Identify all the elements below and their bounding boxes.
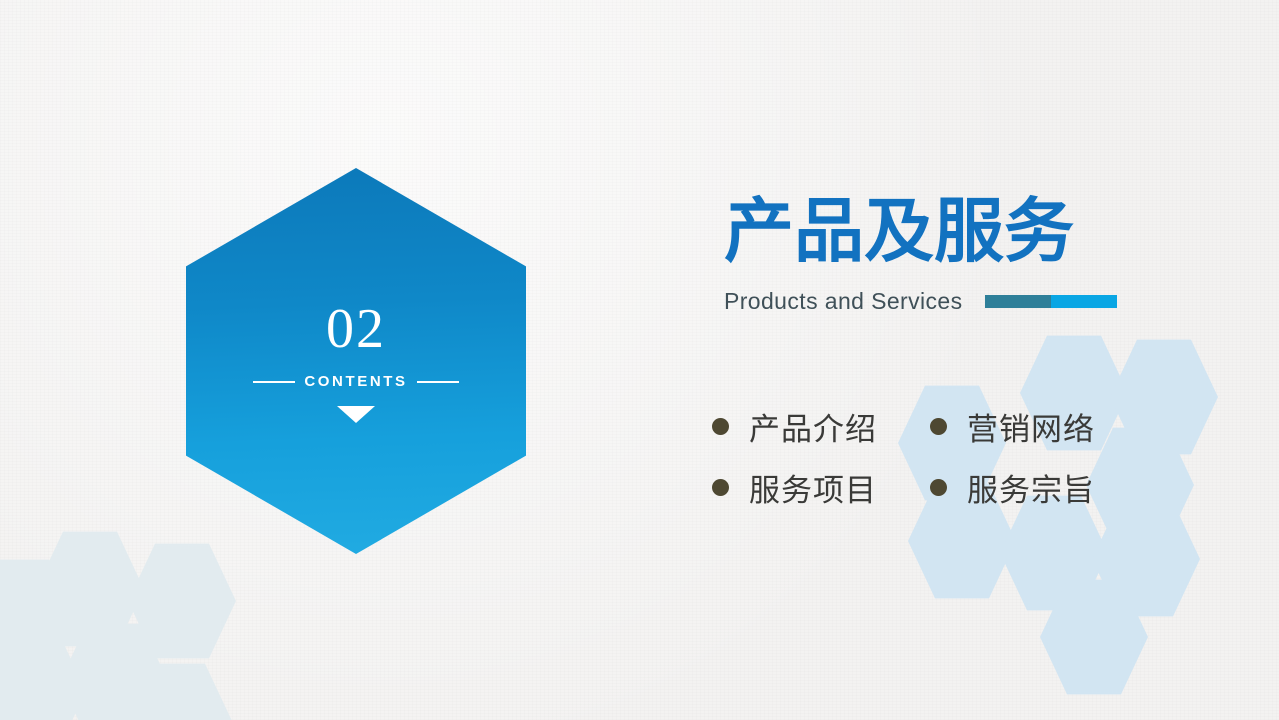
- decorative-hexagon: [124, 660, 232, 720]
- rule-left: [253, 381, 295, 383]
- list-item[interactable]: 服务宗旨: [930, 457, 1148, 518]
- decorative-hexagon: [0, 630, 86, 720]
- list-item-label: 服务宗旨: [967, 465, 1095, 510]
- bullet-dot-icon: [930, 418, 947, 435]
- section-hexagon-content: 02 CONTENTS: [186, 168, 526, 554]
- list-item-label: 服务项目: [749, 465, 877, 510]
- section-number: 02: [326, 301, 386, 357]
- page-title: 产品及服务: [724, 196, 1144, 266]
- presentation-slide: 02 CONTENTS 产品及服务 Products and Services …: [0, 0, 1279, 720]
- list-item[interactable]: 营销网络: [930, 396, 1148, 457]
- rule-right: [417, 381, 459, 383]
- decorative-hexagon: [128, 540, 236, 662]
- contents-label-row: CONTENTS: [253, 373, 458, 390]
- decorative-hexagon: [1040, 576, 1148, 698]
- list-item[interactable]: 服务项目: [712, 457, 930, 518]
- page-subtitle: Products and Services: [724, 288, 963, 315]
- accent-bar-segment-right: [1051, 295, 1117, 308]
- bullet-dot-icon: [712, 479, 729, 496]
- list-item-label: 营销网络: [967, 404, 1095, 449]
- subtitle-row: Products and Services: [724, 288, 1144, 315]
- heading-block: 产品及服务 Products and Services: [724, 196, 1144, 315]
- bullet-dot-icon: [930, 479, 947, 496]
- bullet-dot-icon: [712, 418, 729, 435]
- contents-label: CONTENTS: [304, 373, 407, 390]
- decorative-hexagon: [60, 620, 168, 720]
- accent-bar-segment-left: [985, 295, 1051, 308]
- agenda-list: 产品介绍 营销网络 服务项目 服务宗旨: [712, 396, 1148, 518]
- triangle-down-icon: [337, 406, 375, 423]
- decorative-hexagon: [36, 528, 144, 650]
- accent-bar: [985, 295, 1117, 308]
- list-item-label: 产品介绍: [749, 404, 877, 449]
- decorative-hexagon: [0, 556, 76, 678]
- list-item[interactable]: 产品介绍: [712, 396, 930, 457]
